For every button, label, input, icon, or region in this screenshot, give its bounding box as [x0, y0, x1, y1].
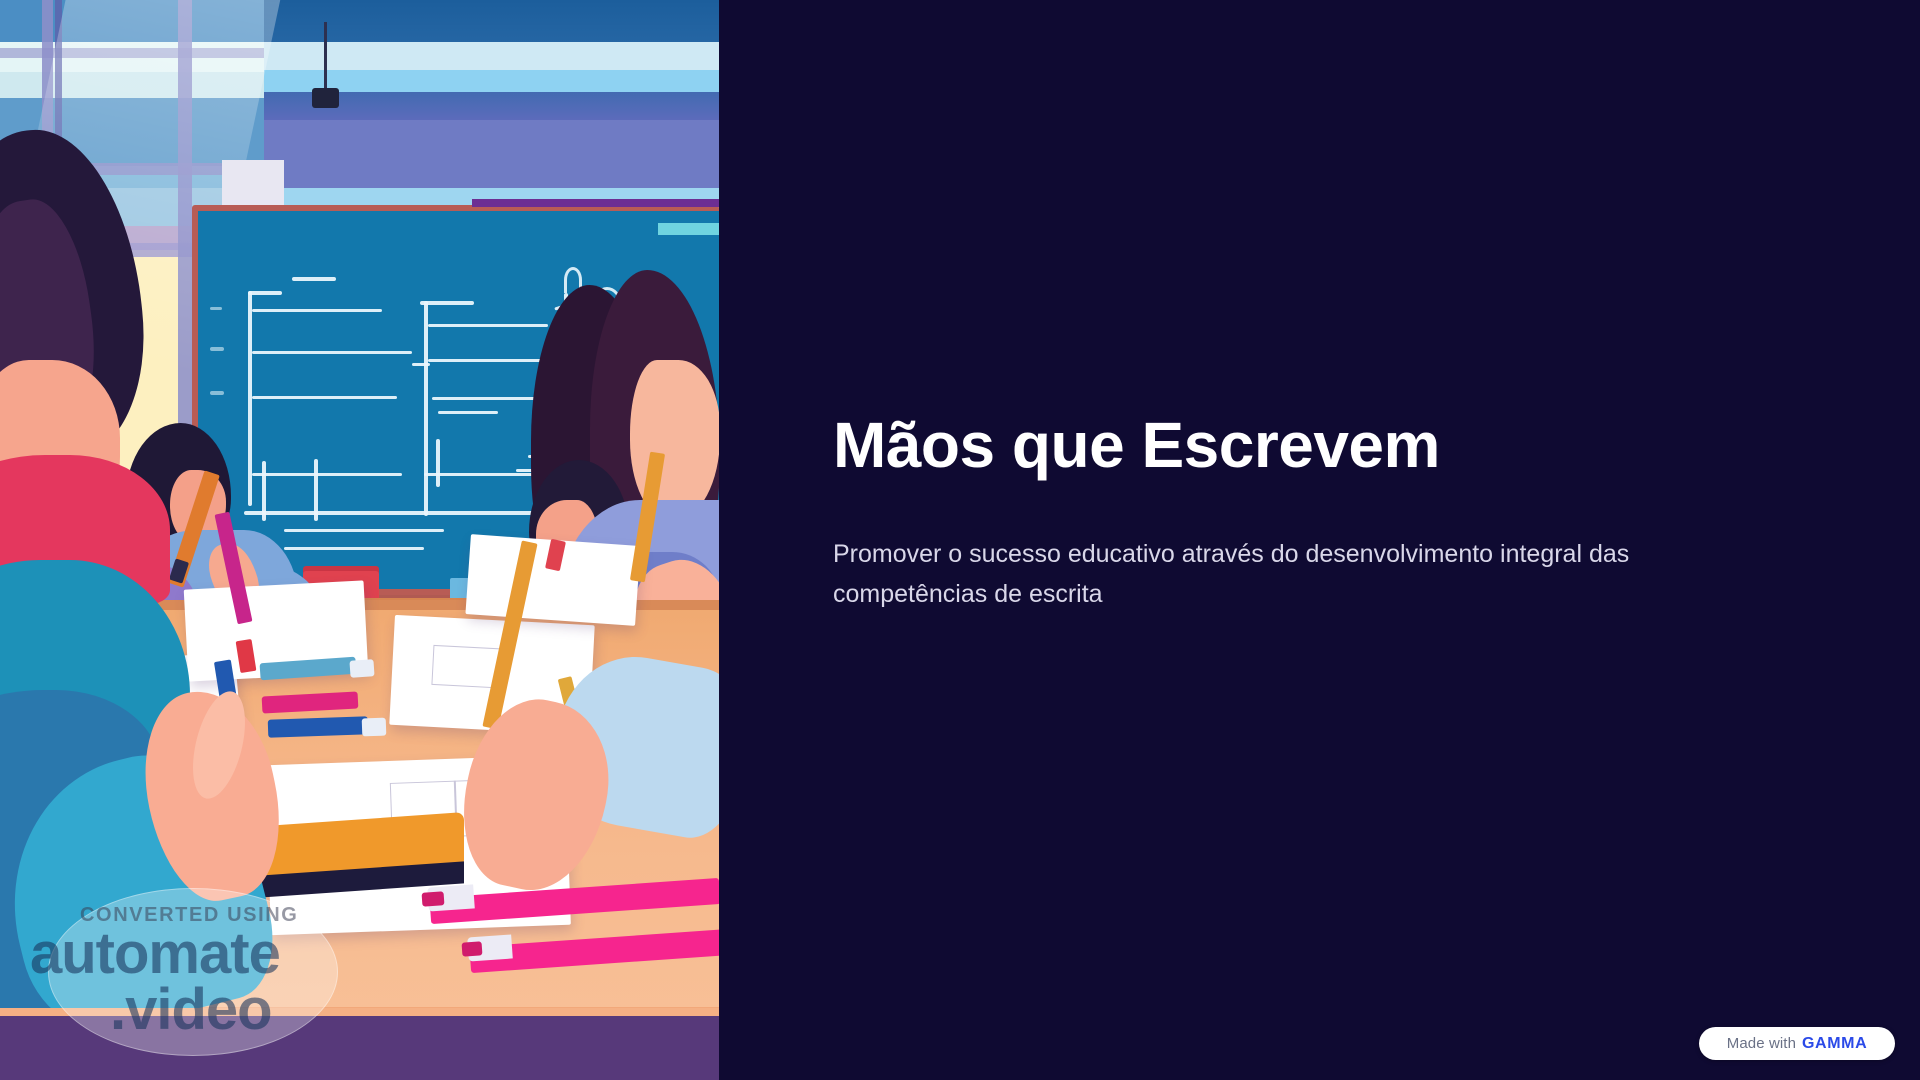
chalk-line	[248, 291, 282, 295]
chalk-line	[252, 309, 382, 312]
marker-cap	[362, 718, 387, 737]
chalk-line	[284, 547, 424, 550]
chalk-line	[252, 351, 412, 354]
marker-tip	[462, 941, 483, 956]
slide-subtitle: Promover o sucesso educativo através do …	[833, 534, 1663, 615]
automate-video-watermark: CONVERTED USING automate .video	[18, 872, 348, 1067]
ceiling-lamp-icon	[312, 88, 339, 108]
chalk-line	[438, 411, 498, 414]
chalk-line	[244, 511, 574, 515]
chalk-line	[252, 473, 402, 476]
chalk-line	[284, 529, 444, 532]
chalkboard-tape	[658, 223, 719, 235]
chalk-line	[420, 301, 474, 305]
chalk-line	[252, 396, 397, 399]
slide-content-area: Mãos que Escrevem Promover o sucesso edu…	[719, 0, 1920, 1080]
ceiling-lamp-wire	[324, 22, 327, 90]
chalk-line	[428, 324, 548, 327]
slide-text-block: Mãos que Escrevem Promover o sucesso edu…	[833, 410, 1833, 615]
chalk-line	[292, 277, 336, 281]
chalk-line	[412, 363, 430, 366]
classroom-illustration-panel: CONVERTED USING automate .video	[0, 0, 719, 1080]
gamma-badge-prefix: Made with	[1727, 1035, 1796, 1052]
gamma-badge-brand: GAMMA	[1802, 1035, 1867, 1053]
made-with-gamma-badge[interactable]: Made with GAMMA	[1699, 1027, 1895, 1060]
back-wall-purple	[260, 120, 719, 190]
marker-blue	[268, 716, 369, 737]
page-title: Mãos que Escrevem	[833, 410, 1833, 482]
wall-strip-light	[260, 42, 719, 70]
chalk-mark	[210, 391, 224, 395]
watermark-video-label: .video	[110, 976, 272, 1043]
marker-cap	[349, 659, 374, 678]
slide-canvas: CONVERTED USING automate .video Mãos que…	[0, 0, 1920, 1080]
chalk-line	[424, 301, 428, 516]
marker-tip	[422, 891, 445, 907]
chalk-mark	[210, 307, 222, 310]
chalk-line	[436, 439, 440, 487]
chalk-mark	[210, 347, 224, 351]
